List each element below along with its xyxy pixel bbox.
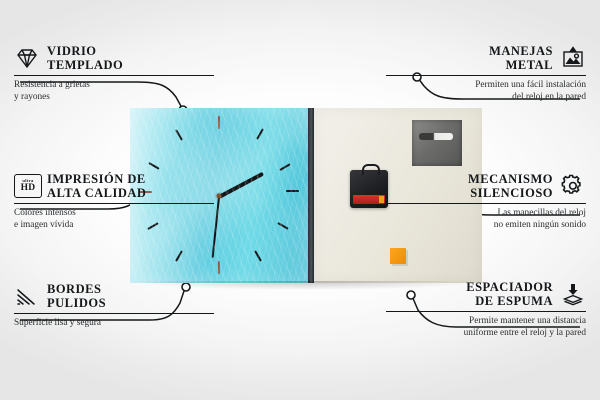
clock-center-pin <box>217 193 222 198</box>
feature-title-2: ALTA CALIDAD <box>47 186 146 200</box>
feature-desc-2: no emiten ningún sonido <box>386 220 586 231</box>
feature-desc: Resistencia a grietas <box>14 80 214 91</box>
ultra-hd-icon: ultra HD <box>14 174 40 198</box>
picture-hanger-icon <box>560 46 586 70</box>
feature-title: MANEJAS <box>489 44 553 58</box>
divider <box>14 203 214 204</box>
feature-metal-handles: MANEJAS METAL Permiten una fácil instala… <box>386 44 586 103</box>
feature-silent-mechanism: MECANISMO SILENCIOSO Las manecillas del … <box>386 172 586 231</box>
feature-desc: Colores intensos <box>14 208 214 219</box>
feature-title: ESPACIADOR <box>466 280 553 294</box>
gear-icon <box>560 174 586 198</box>
divider <box>14 313 214 314</box>
metal-hanger-plate <box>412 120 462 166</box>
divider <box>386 203 586 204</box>
infographic-stage: VIDRIO TEMPLADO Resistencia a grietas y … <box>0 0 600 400</box>
battery <box>353 195 385 204</box>
feature-desc-2: uniforme entre el reloj y la pared <box>386 328 586 339</box>
feature-high-quality-print: ultra HD IMPRESIÓN DE ALTA CALIDAD Color… <box>14 172 214 231</box>
silent-quartz-mechanism <box>350 170 388 208</box>
feature-desc: Superficie lisa y segura <box>14 318 214 329</box>
feature-desc-2: del reloj en la pared <box>386 92 586 103</box>
feature-title: IMPRESIÓN DE <box>47 172 146 186</box>
hanger-slot <box>419 133 453 140</box>
hd-label: HD <box>21 184 36 194</box>
feature-title-2: TEMPLADO <box>47 58 123 72</box>
divider <box>14 75 214 76</box>
feature-title-2: PULIDOS <box>47 296 106 310</box>
polished-edges-icon <box>14 284 40 308</box>
feature-desc: Las manecillas del reloj <box>386 208 586 219</box>
feature-desc: Permite mantener una distancia <box>386 316 586 327</box>
hour-hand <box>218 172 264 199</box>
foam-spacer <box>390 248 406 264</box>
feature-title: BORDES <box>47 282 106 296</box>
divider <box>386 75 586 76</box>
feature-title-2: DE ESPUMA <box>466 294 553 308</box>
feature-title-2: SILENCIOSO <box>468 186 553 200</box>
feature-desc-2: y rayones <box>14 92 214 103</box>
feature-title: MECANISMO <box>468 172 553 186</box>
divider <box>386 311 586 312</box>
feature-title: VIDRIO <box>47 44 123 58</box>
press-down-layers-icon <box>560 282 586 306</box>
feature-foam-spacer: ESPACIADOR DE ESPUMA Permite mantener un… <box>386 280 586 339</box>
feature-polished-edges: BORDES PULIDOS Superficie lisa y segura <box>14 282 214 330</box>
feature-desc-2: e imagen vívida <box>14 220 214 231</box>
mechanism-loop <box>362 164 380 175</box>
feature-tempered-glass: VIDRIO TEMPLADO Resistencia a grietas y … <box>14 44 214 103</box>
feature-title-2: METAL <box>489 58 553 72</box>
diamond-icon <box>14 46 40 70</box>
feature-desc: Permiten una fácil instalación <box>386 80 586 91</box>
